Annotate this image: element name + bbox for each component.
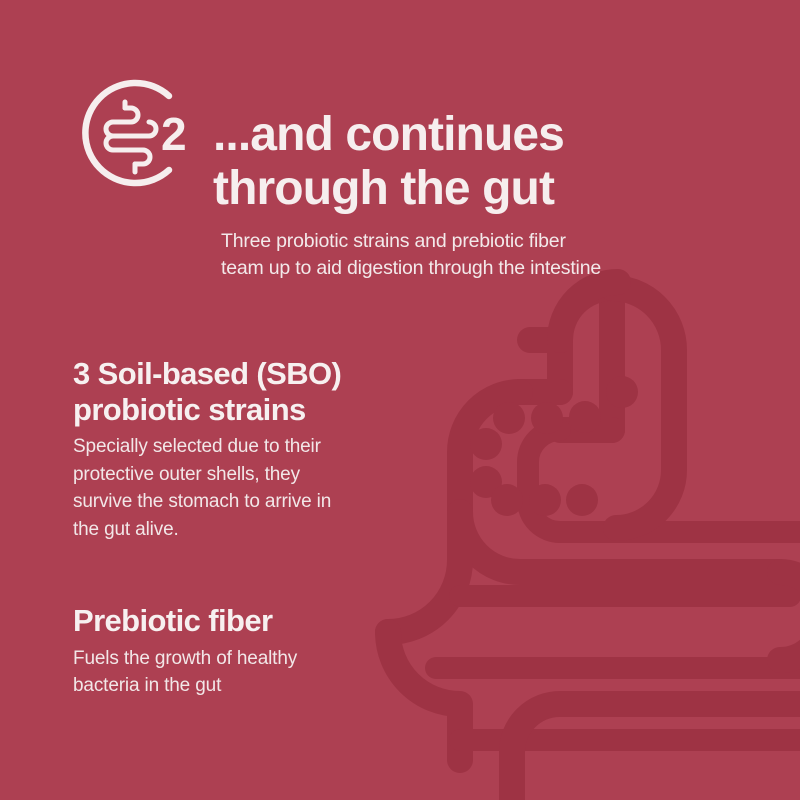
intestine-icon bbox=[106, 102, 156, 172]
villi-dots bbox=[470, 376, 638, 516]
infographic-poster: 2 ...and continues through the gut Three… bbox=[0, 0, 800, 800]
step-badge: 2 bbox=[73, 72, 195, 194]
section-sbo-title: 3 Soil-based (SBO) probiotic strains bbox=[73, 356, 463, 427]
section-sbo-body: Specially selected due to their protecti… bbox=[73, 433, 463, 543]
section-fiber-title: Prebiotic fiber bbox=[73, 603, 463, 639]
section-prebiotic-fiber: Prebiotic fiber Fuels the growth of heal… bbox=[73, 603, 463, 700]
section-sbo-strains: 3 Soil-based (SBO) probiotic strains Spe… bbox=[73, 356, 463, 543]
page-title: ...and continues through the gut bbox=[213, 108, 783, 216]
step-number: 2 bbox=[161, 108, 187, 160]
page-subtitle: Three probiotic strains and prebiotic fi… bbox=[221, 228, 781, 283]
section-fiber-body: Fuels the growth of healthy bacteria in … bbox=[73, 645, 463, 700]
